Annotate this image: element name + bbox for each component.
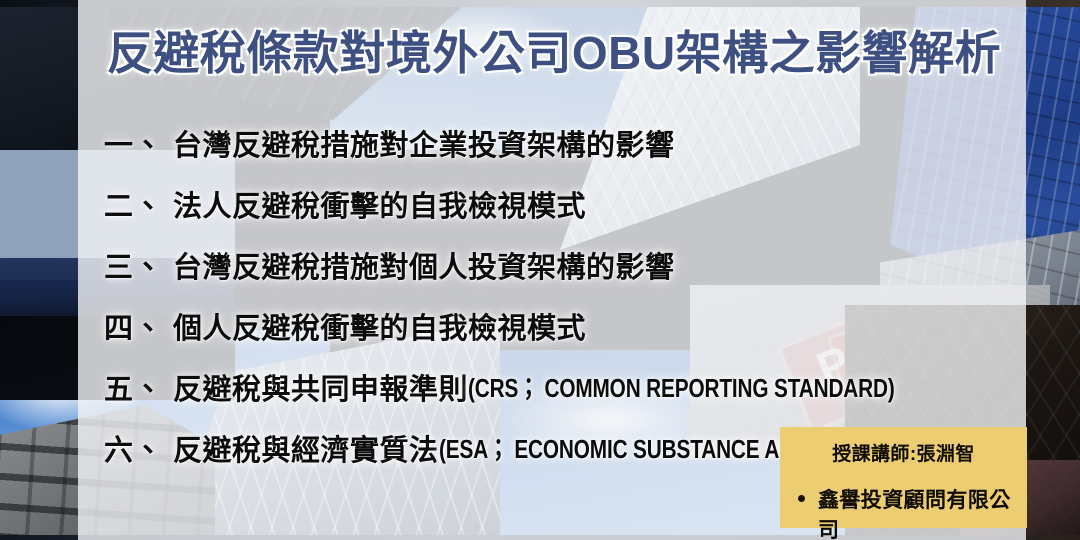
bullet-icon — [798, 495, 805, 502]
agenda-item-text: 反避稅與共同申報準則 — [173, 366, 468, 408]
presentation-slide: P STOP WAY 反避稅條款對境外公司OBU架構之影響解析 一、 台灣反避稅… — [0, 0, 1080, 540]
agenda-item-latin: (CRS； COMMON REPORTING STANDARD) — [468, 368, 895, 405]
agenda-item-text: 台灣反避稅措施對個人投資架構的影響 — [173, 244, 675, 286]
agenda-item-latin: (ESA； ECONOMIC SUBSTANCE ACT) — [439, 429, 813, 466]
agenda-item: 四、 個人反避稅衝擊的自我檢視模式 — [104, 295, 1034, 356]
agenda-item-number: 五、 — [104, 366, 163, 408]
agenda-item-number: 一、 — [104, 122, 163, 164]
agenda-list: 一、 台灣反避稅措施對企業投資架構的影響 二、 法人反避稅衝擊的自我檢視模式 三… — [104, 112, 1034, 478]
agenda-item-number: 三、 — [104, 244, 163, 286]
agenda-item-text: 台灣反避稅措施對企業投資架構的影響 — [173, 122, 675, 164]
agenda-item-number: 六、 — [104, 427, 163, 469]
speaker-info-box: 授課講師:張淵智 鑫譽投資顧問有限公司 — [780, 427, 1027, 528]
agenda-item: 五、 反避稅與共同申報準則 (CRS； COMMON REPORTING STA… — [104, 356, 1034, 417]
agenda-item: 三、 台灣反避稅措施對個人投資架構的影響 — [104, 234, 1034, 295]
instructor-label: 授課講師:張淵智 — [780, 439, 1027, 466]
agenda-item-text: 法人反避稅衝擊的自我檢視模式 — [173, 183, 586, 225]
agenda-item: 二、 法人反避稅衝擊的自我檢視模式 — [104, 173, 1034, 234]
company-label: 鑫譽投資顧問有限公司 — [818, 484, 1027, 540]
agenda-item-number: 二、 — [104, 183, 163, 225]
agenda-item-text: 個人反避稅衝擊的自我檢視模式 — [173, 305, 586, 347]
slide-title: 反避稅條款對境外公司OBU架構之影響解析 — [104, 24, 1004, 82]
agenda-item-text: 反避稅與經濟實質法 — [173, 427, 439, 469]
agenda-item-number: 四、 — [104, 305, 163, 347]
agenda-item: 一、 台灣反避稅措施對企業投資架構的影響 — [104, 112, 1034, 173]
